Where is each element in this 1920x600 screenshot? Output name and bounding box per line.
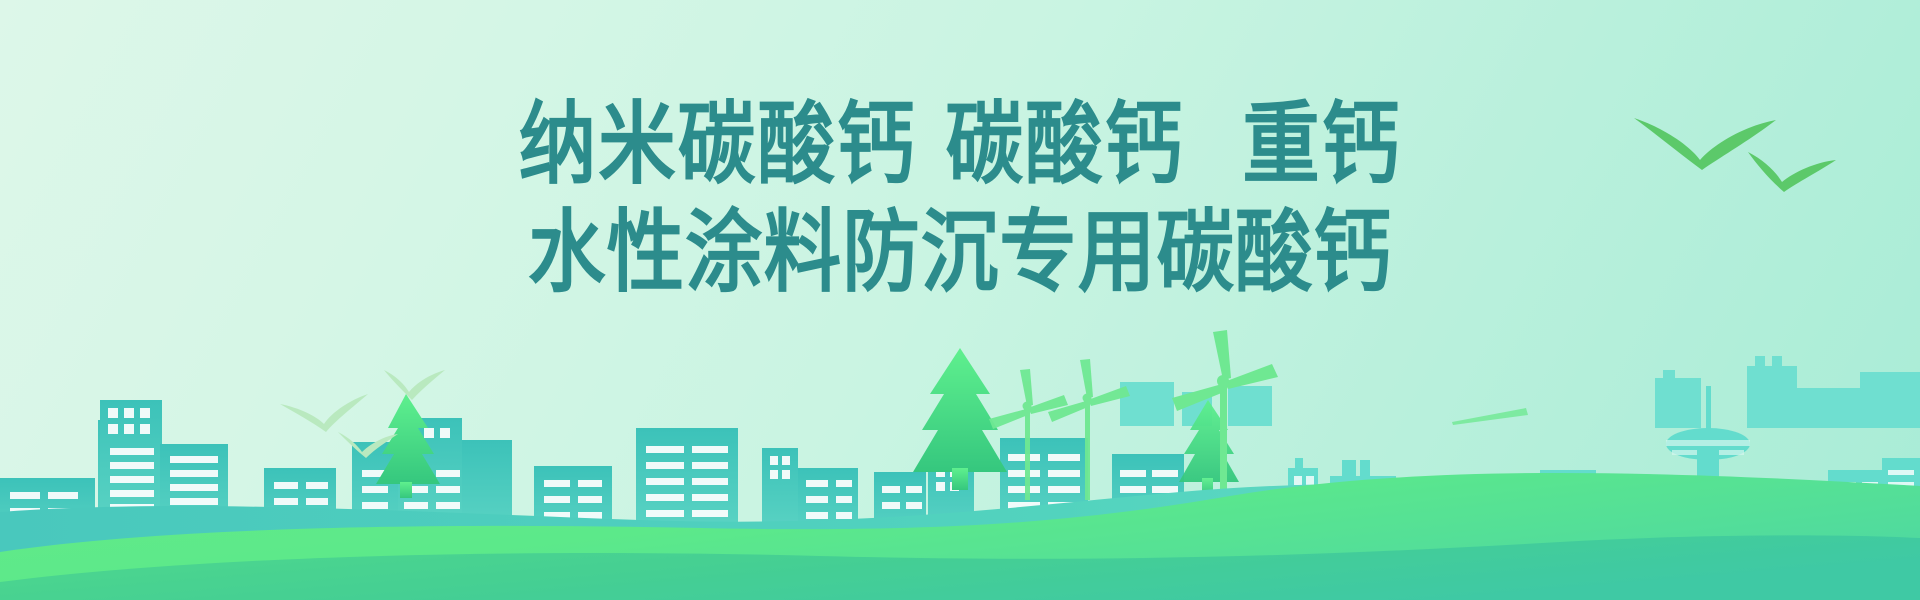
bird-icon <box>280 394 368 432</box>
bird-flock-left <box>0 0 1920 600</box>
bird-icon <box>338 432 398 458</box>
bird-icon <box>384 370 445 400</box>
promo-banner: 纳米碳酸钙 碳酸钙 重钙 水性涂料防沉专用碳酸钙 <box>0 0 1920 600</box>
